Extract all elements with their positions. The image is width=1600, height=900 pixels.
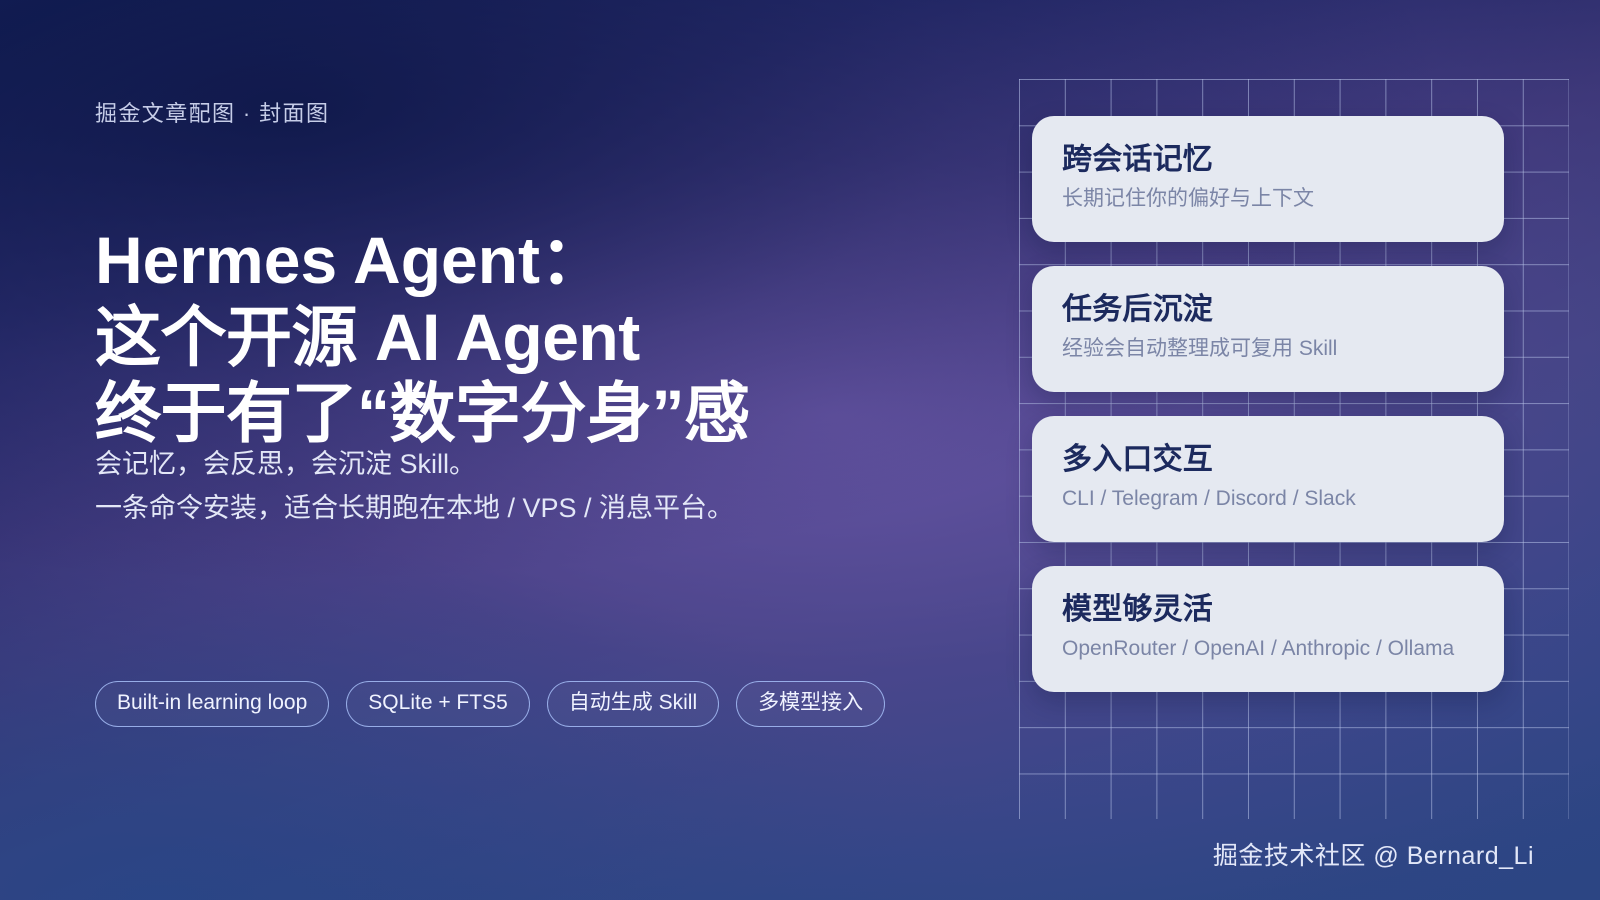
feature-card-model-flexibility[interactable]: 模型够灵活 OpenRouter / OpenAI / Anthropic / … <box>1032 566 1504 692</box>
feature-card-multi-entry[interactable]: 多入口交互 CLI / Telegram / Discord / Slack <box>1032 416 1504 542</box>
feature-card-skill-distillation[interactable]: 任务后沉淀 经验会自动整理成可复用 Skill <box>1032 266 1504 392</box>
feature-pill-group: Built-in learning loop SQLite + FTS5 自动生… <box>95 681 885 727</box>
feature-card-memory[interactable]: 跨会话记忆 长期记住你的偏好与上下文 <box>1032 116 1504 242</box>
card-title: 跨会话记忆 <box>1062 142 1504 177</box>
cover-canvas: 掘金文章配图 · 封面图 Hermes Agent： 这个开源 AI Agent… <box>0 0 1600 900</box>
left-content-column: 掘金文章配图 · 封面图 Hermes Agent： 这个开源 AI Agent… <box>95 0 975 900</box>
card-title: 模型够灵活 <box>1062 592 1504 627</box>
feature-pill-auto-skill[interactable]: 自动生成 Skill <box>547 681 719 727</box>
feature-pill-sqlite-fts5[interactable]: SQLite + FTS5 <box>346 681 529 727</box>
footer-credit: 掘金技术社区 @ Bernard_Li <box>1213 836 1534 872</box>
eyebrow-label: 掘金文章配图 · 封面图 <box>95 96 329 128</box>
title-line-3: 终于有了“数字分身”感 <box>95 375 925 452</box>
card-title: 任务后沉淀 <box>1062 292 1504 327</box>
card-subtitle: CLI / Telegram / Discord / Slack <box>1062 486 1504 511</box>
title-line-2: 这个开源 AI Agent <box>95 299 925 376</box>
description-line-2: 一条命令安装，适合长期跑在本地 / VPS / 消息平台。 <box>95 487 855 531</box>
page-title: Hermes Agent： 这个开源 AI Agent 终于有了“数字分身”感 <box>95 222 925 452</box>
feature-pill-multi-model[interactable]: 多模型接入 <box>736 681 885 727</box>
title-line-1: Hermes Agent： <box>95 222 925 299</box>
description-line-1: 会记忆，会反思，会沉淀 Skill。 <box>95 443 855 487</box>
description-text: 会记忆，会反思，会沉淀 Skill。 一条命令安装，适合长期跑在本地 / VPS… <box>95 443 855 530</box>
feature-card-list: 跨会话记忆 长期记住你的偏好与上下文 任务后沉淀 经验会自动整理成可复用 Ski… <box>1032 116 1504 692</box>
card-title: 多入口交互 <box>1062 442 1504 477</box>
card-subtitle: OpenRouter / OpenAI / Anthropic / Ollama <box>1062 636 1504 661</box>
feature-pill-learning-loop[interactable]: Built-in learning loop <box>95 681 329 727</box>
card-subtitle: 经验会自动整理成可复用 Skill <box>1062 336 1504 361</box>
card-subtitle: 长期记住你的偏好与上下文 <box>1062 186 1504 211</box>
